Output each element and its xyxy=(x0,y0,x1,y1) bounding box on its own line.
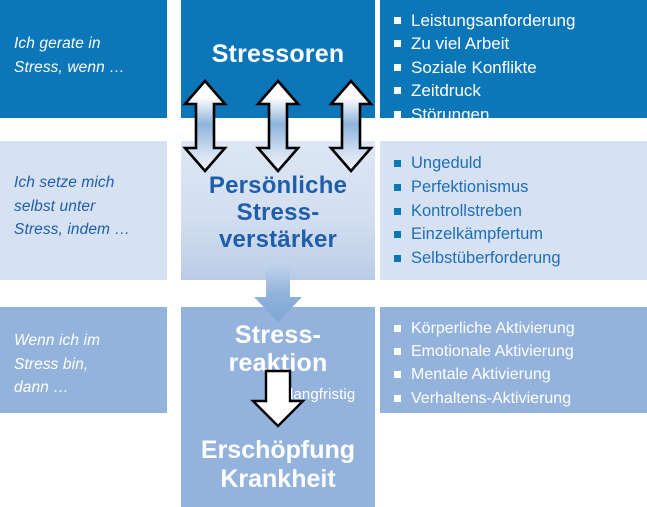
square-bullet-icon xyxy=(394,40,401,47)
stress-model-diagram: Ich gerate in Stress, wenn … Stressoren … xyxy=(0,0,647,507)
outcome-line: Krankheit xyxy=(181,465,375,494)
list-item-label: Körperliche Aktivierung xyxy=(411,320,575,337)
list-item-label: Zeitdruck xyxy=(411,81,481,100)
square-bullet-icon xyxy=(394,64,401,71)
square-bullet-icon xyxy=(394,395,401,402)
square-bullet-icon xyxy=(394,184,401,191)
list-item: Ungeduld xyxy=(394,152,647,176)
list-item: Perfektionismus xyxy=(394,176,647,200)
prompt-box-stress-amplifiers: Ich setze mich selbst unter Stress, inde… xyxy=(0,141,167,280)
list-item: Zeitdruck xyxy=(394,79,647,102)
square-bullet-icon xyxy=(394,208,401,215)
prompt-line: Ich gerate in xyxy=(14,32,167,56)
prompt-line: Wenn ich im xyxy=(14,329,167,353)
prompt-text-stress-amplifiers: Ich setze mich selbst unter Stress, inde… xyxy=(14,171,167,242)
square-bullet-icon xyxy=(394,160,401,167)
square-bullet-icon xyxy=(394,325,401,332)
center-box-stressreaktion: Stress- reaktion Erschöpfung Krankheit xyxy=(181,307,375,507)
outcome-line: Erschöpfung xyxy=(181,436,375,465)
list-item-label: Störungen xyxy=(411,105,489,124)
list-item-label: Kontrollstreben xyxy=(411,202,522,220)
square-bullet-icon xyxy=(394,87,401,94)
list-item-label: Einzelkämpfertum xyxy=(411,225,543,243)
prompt-line: Stress, wenn … xyxy=(14,56,167,80)
center-title-stressverstaerker: Persönliche Stress- verstärker xyxy=(181,141,375,254)
list-item-label: Leistungsanforderung xyxy=(411,11,575,30)
list-item: Zu viel Arbeit xyxy=(394,32,647,55)
list-item: Verhaltens-Aktivierung xyxy=(394,387,647,410)
prompt-box-stress-reaction: Wenn ich im Stress bin, dann … xyxy=(0,307,167,413)
center-title-line: verstärker xyxy=(181,227,375,254)
square-bullet-icon xyxy=(394,371,401,378)
list-item: Einzelkämpfertum xyxy=(394,223,647,247)
prompt-line: Stress bin, xyxy=(14,353,167,377)
list-item: Leistungsanforderung xyxy=(394,9,647,32)
list-item: Kontrollstreben xyxy=(394,200,647,224)
square-bullet-icon xyxy=(394,255,401,262)
prompt-line: Ich setze mich xyxy=(14,171,167,195)
list-item: Emotionale Aktivierung xyxy=(394,340,647,363)
list-stressoren: Leistungsanforderung Zu viel Arbeit Sozi… xyxy=(380,0,647,126)
center-title-line: Stress- xyxy=(181,200,375,227)
list-item-label: Ungeduld xyxy=(411,154,482,172)
prompt-line: dann … xyxy=(14,376,167,400)
prompt-line: Stress, indem … xyxy=(14,218,167,242)
center-title-stressreaktion: Stress- reaktion xyxy=(181,307,375,377)
center-title-line: Stress- xyxy=(181,321,375,349)
prompt-box-stressors: Ich gerate in Stress, wenn … xyxy=(0,0,167,118)
outcome-title-erschoepfung-krankheit: Erschöpfung Krankheit xyxy=(181,436,375,493)
list-item-label: Emotionale Aktivierung xyxy=(411,343,574,360)
prompt-text-stress-reaction: Wenn ich im Stress bin, dann … xyxy=(14,329,167,400)
list-item: Mentale Aktivierung xyxy=(394,363,647,386)
square-bullet-icon xyxy=(394,111,401,118)
center-title-stressoren: Stressoren xyxy=(181,0,375,69)
list-stressverstaerker: Ungeduld Perfektionismus Kontrollstreben… xyxy=(380,141,647,271)
list-item: Störungen xyxy=(394,103,647,126)
square-bullet-icon xyxy=(394,17,401,24)
list-item-label: Mentale Aktivierung xyxy=(411,366,551,383)
arrow-label-langfristig: langfristig xyxy=(290,386,355,403)
list-box-stressoren: Leistungsanforderung Zu viel Arbeit Sozi… xyxy=(380,0,647,118)
prompt-text-stressors: Ich gerate in Stress, wenn … xyxy=(14,32,167,79)
list-stressreaktion: Körperliche Aktivierung Emotionale Aktiv… xyxy=(380,307,647,410)
list-box-stressverstaerker: Ungeduld Perfektionismus Kontrollstreben… xyxy=(380,141,647,280)
list-item-label: Verhaltens-Aktivierung xyxy=(411,390,571,407)
list-box-stressreaktion: Körperliche Aktivierung Emotionale Aktiv… xyxy=(380,307,647,413)
list-item: Soziale Konflikte xyxy=(394,56,647,79)
prompt-line: selbst unter xyxy=(14,195,167,219)
list-item-label: Selbstüberforderung xyxy=(411,249,561,267)
center-title-line: reaktion xyxy=(181,349,375,377)
list-item: Körperliche Aktivierung xyxy=(394,317,647,340)
list-item-label: Zu viel Arbeit xyxy=(411,34,509,53)
center-box-stressoren: Stressoren xyxy=(181,0,375,118)
square-bullet-icon xyxy=(394,348,401,355)
list-item-label: Soziale Konflikte xyxy=(411,58,537,77)
list-item: Selbstüberforderung xyxy=(394,247,647,271)
center-title-line: Persönliche xyxy=(181,173,375,200)
list-item-label: Perfektionismus xyxy=(411,178,528,196)
center-box-persoenliche-stressverstaerker: Persönliche Stress- verstärker xyxy=(181,141,375,280)
square-bullet-icon xyxy=(394,231,401,238)
